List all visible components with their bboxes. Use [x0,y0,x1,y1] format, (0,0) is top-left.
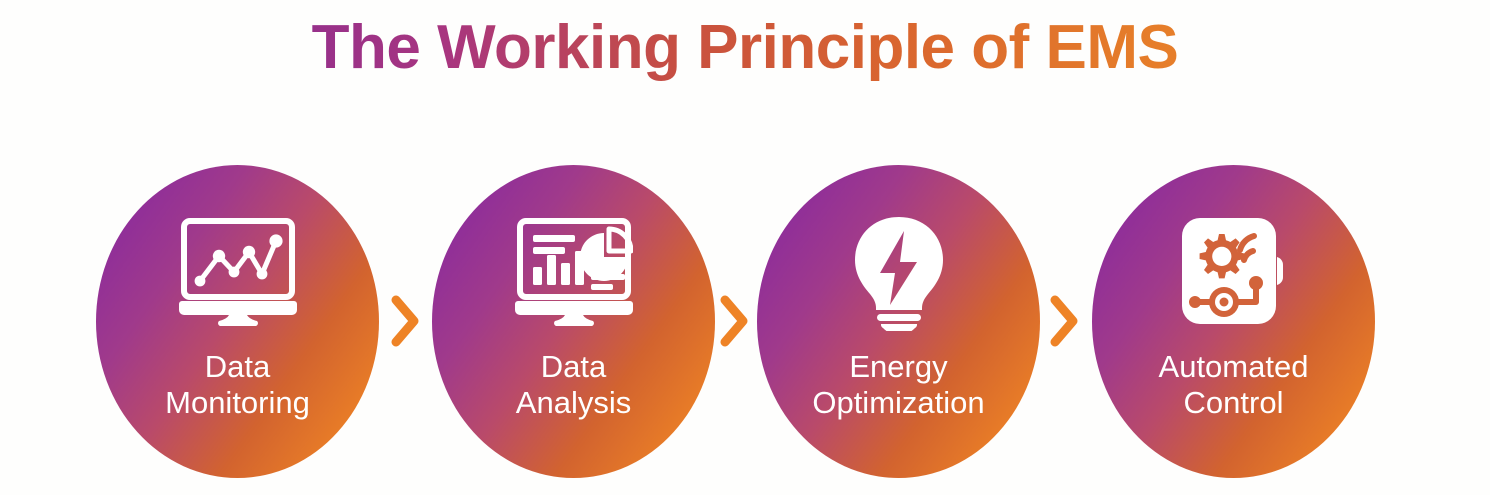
step-circle-energy-optimization[interactable]: Energy Optimization [757,165,1040,478]
chevron-right-icon-3 [1049,295,1079,347]
step-circle-data-monitoring[interactable]: Data Monitoring [96,165,379,478]
chevron-right-icon-2 [719,295,749,347]
step-label-line1: Data [541,349,606,384]
step-label-line2: Monitoring [165,385,310,421]
step-label-line2: Optimization [812,385,984,421]
step-label: Energy Optimization [812,349,984,422]
step-label: Data Analysis [516,349,631,422]
page-title: The Working Principle of EMS [0,14,1490,82]
infographic-canvas: The Working Principle of EMS [0,0,1490,495]
step-label-line1: Automated [1159,349,1309,384]
smart-device-gear-wifi-icon [1172,213,1296,333]
step-circle-data-analysis[interactable]: Data Analysis [432,165,715,478]
step-label-line1: Energy [849,349,947,384]
step-label-line1: Data [205,349,270,384]
lightbulb-bolt-icon [837,213,961,333]
chevron-right-icon-1 [390,295,420,347]
step-label: Automated Control [1159,349,1309,422]
step-circle-automated-control[interactable]: Automated Control [1092,165,1375,478]
step-label-line2: Analysis [516,385,631,421]
monitor-line-chart-icon [176,213,300,333]
monitor-bar-pie-chart-icon [512,213,636,333]
step-label: Data Monitoring [165,349,310,422]
step-label-line2: Control [1159,385,1309,421]
